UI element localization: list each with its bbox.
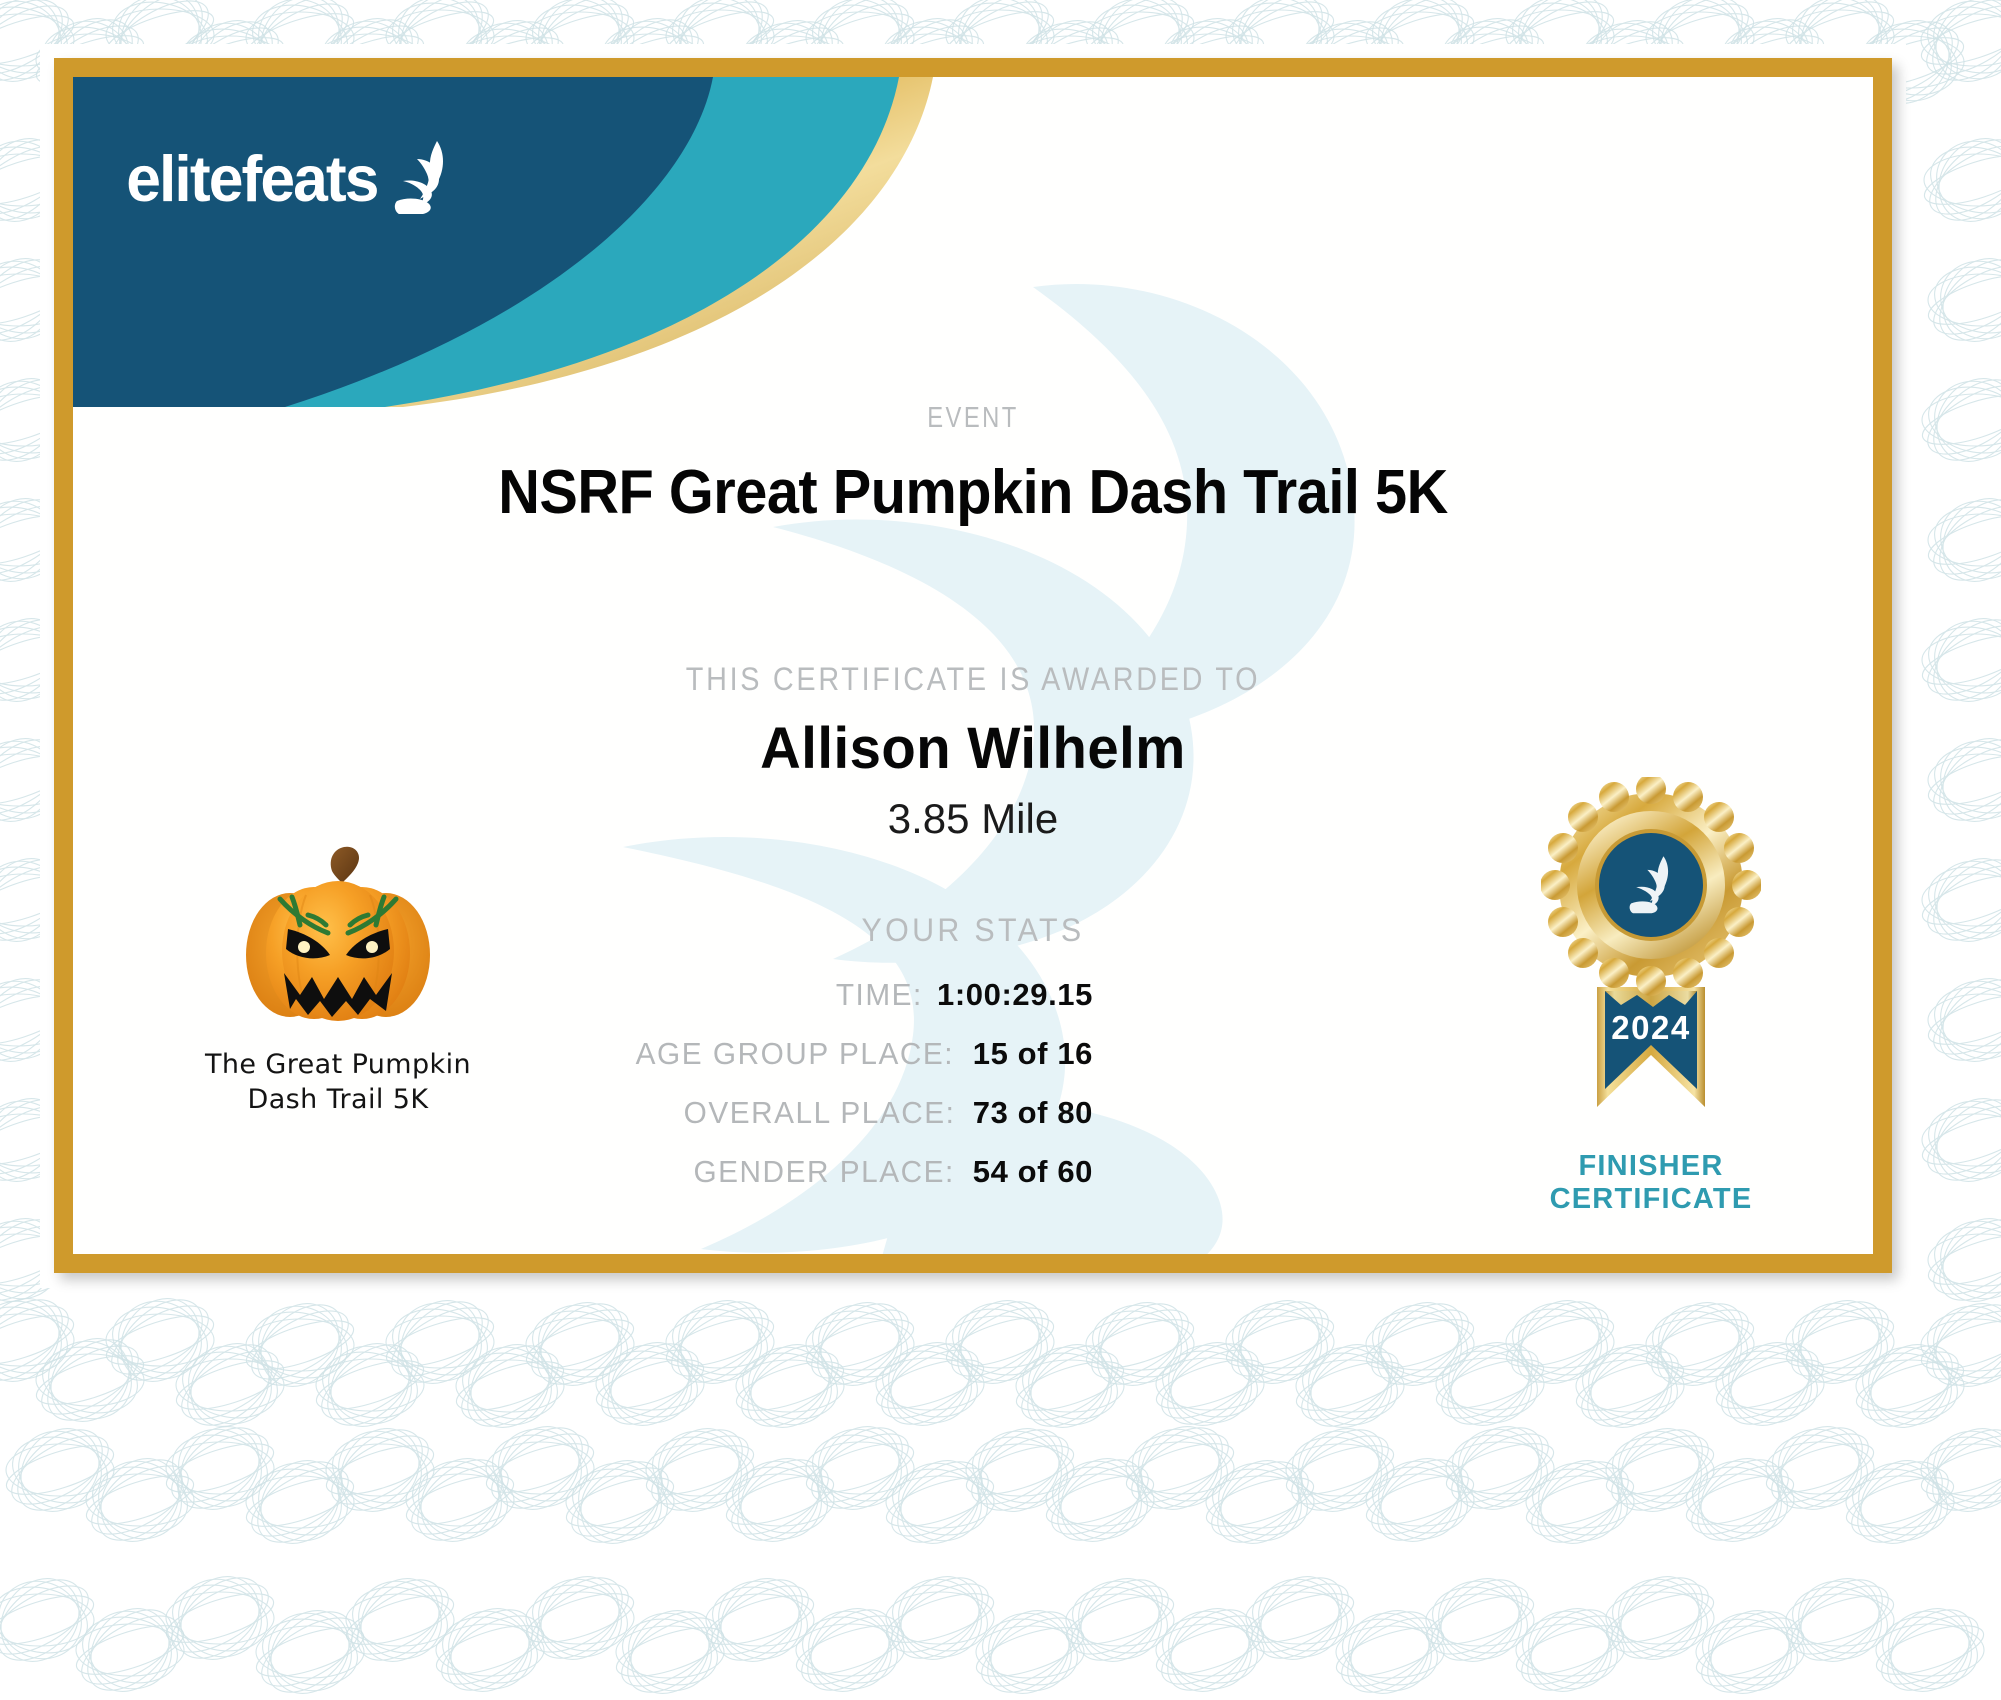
event-title: NSRF Great Pumpkin Dash Trail 5K (136, 457, 1810, 528)
certificate-card: elitefeats EVENT NSRF Great Pumpkin Dash… (54, 58, 1892, 1273)
event-label: EVENT (235, 402, 1711, 435)
certificate-page: elitefeats EVENT NSRF Great Pumpkin Dash… (0, 0, 2001, 1700)
stat-label: TIME: (836, 977, 923, 1013)
medal-year: 2024 (1611, 1009, 1690, 1046)
awarded-to-label: THIS CERTIFICATE IS AWARDED TO (163, 661, 1783, 698)
stat-value: 15 of 16 (973, 1036, 1093, 1072)
event-logo-caption-line2: Dash Trail 5K (203, 1083, 473, 1118)
jack-o-lantern-icon (228, 837, 448, 1037)
stat-value: 73 of 80 (973, 1095, 1093, 1131)
event-logo-block: The Great Pumpkin Dash Trail 5K (203, 837, 473, 1117)
recipient-name: Allison Wilhelm (100, 715, 1846, 782)
event-logo-caption-line1: The Great Pumpkin (203, 1048, 473, 1083)
stat-row-gender-place: GENDER PLACE: 54 of 60 (473, 1154, 1093, 1190)
stat-value: 1:00:29.15 (937, 977, 1093, 1013)
stat-row-overall-place: OVERALL PLACE: 73 of 80 (473, 1095, 1093, 1131)
finisher-medal-block: 2024 FINISHER CERTIFICATE (1511, 777, 1791, 1216)
stat-label: GENDER PLACE: (694, 1154, 955, 1190)
stat-value: 54 of 60 (973, 1154, 1093, 1190)
stats-table: TIME: 1:00:29.15 AGE GROUP PLACE: 15 of … (473, 977, 1093, 1213)
brand-logo: elitefeats (121, 139, 463, 217)
brand-wordmark: elitefeats (126, 146, 377, 211)
stat-row-age-group-place: AGE GROUP PLACE: 15 of 16 (473, 1036, 1093, 1072)
stat-label: OVERALL PLACE: (683, 1095, 955, 1131)
event-logo-caption: The Great Pumpkin Dash Trail 5K (203, 1048, 473, 1117)
winged-foot-icon (387, 139, 463, 217)
medal-caption-line1: FINISHER (1511, 1150, 1791, 1183)
stat-label: AGE GROUP PLACE: (636, 1036, 954, 1072)
award-ribbon-icon: 2024 (1541, 777, 1761, 1137)
stat-row-time: TIME: 1:00:29.15 (473, 977, 1093, 1013)
medal-caption: FINISHER CERTIFICATE (1511, 1150, 1791, 1216)
medal-caption-line2: CERTIFICATE (1511, 1183, 1791, 1216)
